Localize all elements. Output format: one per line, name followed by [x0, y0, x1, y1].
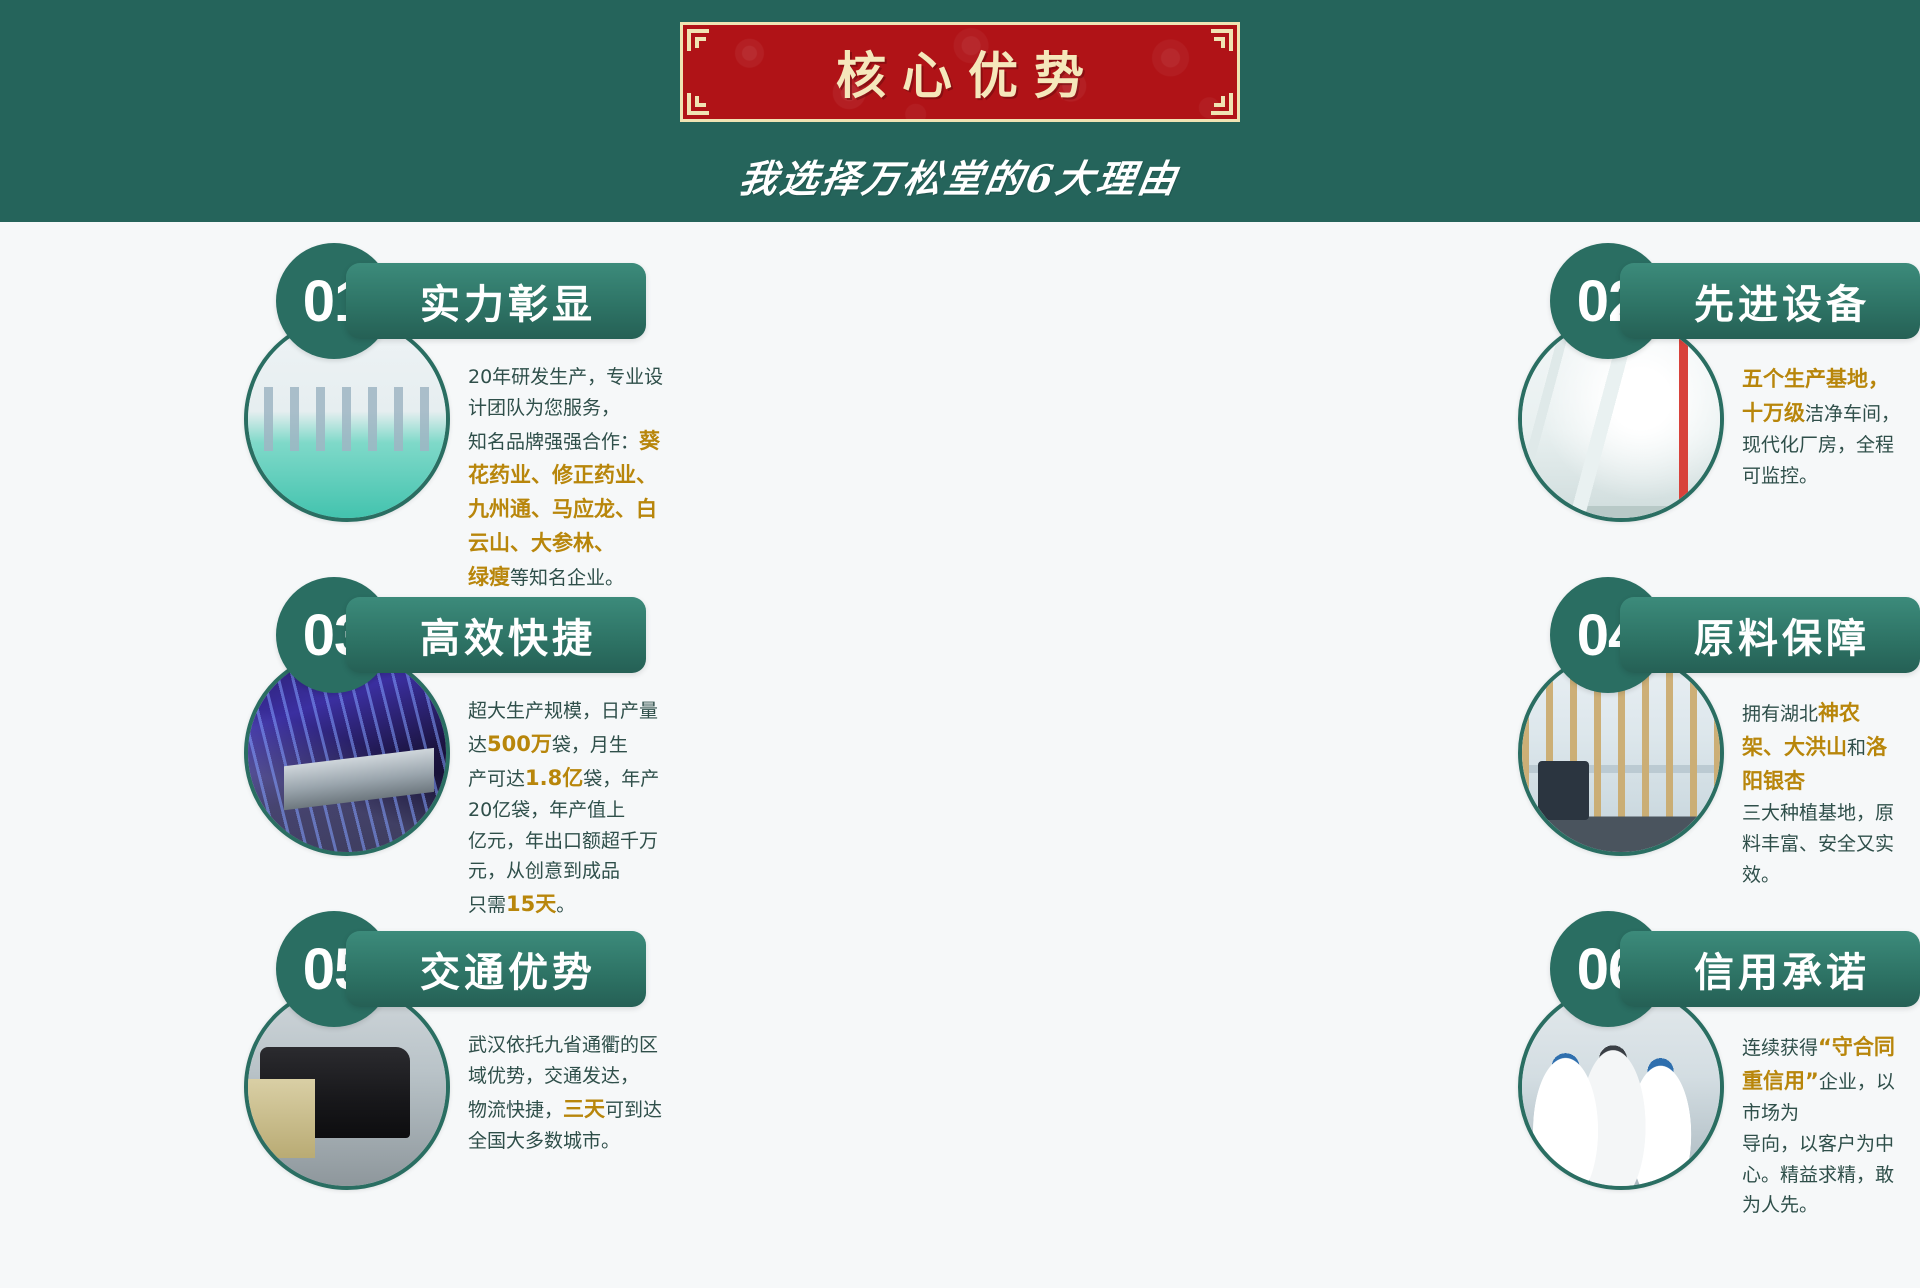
page-title: 核心优势: [820, 36, 1100, 108]
card-header-03: 03 高效快捷: [0, 594, 694, 676]
card-description-06: 连续获得“守合同重信用”企业，以市场为导向，以客户为中心。精益求精，敢为人先。: [1724, 984, 1920, 1221]
card-description-03: 超大生产规模，日产量达500万袋，月生产可达1.8亿袋，年产20亿袋，年产值上亿…: [450, 650, 694, 921]
advantage-card-03: 03 高效快捷 超大生产规模，日产量达500万袋，月生产可达1.8亿袋，年产20…: [0, 594, 694, 928]
card-title-06: 信用承诺: [1620, 931, 1920, 1007]
page-subtitle: 我选择万松堂的6大理由: [736, 148, 1184, 203]
advantage-card-05: 05 交通优势 武汉依托九省通衢的区域优势，交通发达，物流快捷，三天可到达全国大…: [0, 928, 694, 1262]
card-header-05: 05 交通优势: [0, 928, 694, 1010]
advantage-card-06: 06 信用承诺 连续获得“守合同重信用”企业，以市场为导向，以客户为中心。精益求…: [694, 928, 1920, 1262]
advantage-card-04: 04 原料保障 拥有湖北神农架、大洪山和洛阳银杏三大种植基地，原料丰富、安全又实…: [694, 594, 1920, 928]
card-title-01: 实力彰显: [346, 263, 646, 339]
banner-corner-bottom-left-icon: [687, 81, 721, 115]
card-title-05: 交通优势: [346, 931, 646, 1007]
advantage-card-01: 01 实力彰显 20年研发生产，专业设计团队为您服务，知名品牌强强合作：葵花药业…: [0, 260, 694, 594]
core-advantage-banner: 核心优势: [680, 22, 1240, 122]
card-header-01: 01 实力彰显: [0, 260, 694, 342]
card-header-06: 06 信用承诺: [694, 928, 1920, 1010]
banner-corner-top-left-icon: [687, 29, 721, 63]
banner-corner-bottom-right-icon: [1199, 81, 1233, 115]
card-title-03: 高效快捷: [346, 597, 646, 673]
card-body-04: 拥有湖北神农架、大洪山和洛阳银杏三大种植基地，原料丰富、安全又实效。: [694, 650, 1920, 890]
card-body-06: 连续获得“守合同重信用”企业，以市场为导向，以客户为中心。精益求精，敢为人先。: [694, 984, 1920, 1221]
card-description-01: 20年研发生产，专业设计团队为您服务，知名品牌强强合作：葵花药业、修正药业、九州…: [450, 316, 694, 594]
card-title-02: 先进设备: [1620, 263, 1920, 339]
card-description-04: 拥有湖北神农架、大洪山和洛阳银杏三大种植基地，原料丰富、安全又实效。: [1724, 650, 1920, 890]
advantage-card-02: 02 先进设备 五个生产基地，十万级洁净车间，现代化厂房，全程可监控。: [694, 260, 1920, 594]
card-description-02: 五个生产基地，十万级洁净车间，现代化厂房，全程可监控。: [1724, 316, 1920, 492]
card-title-04: 原料保障: [1620, 597, 1920, 673]
banner-corner-top-right-icon: [1199, 29, 1233, 63]
card-body-01: 20年研发生产，专业设计团队为您服务，知名品牌强强合作：葵花药业、修正药业、九州…: [0, 316, 694, 594]
advantages-infographic: 核心优势 我选择万松堂的6大理由 01 实力彰显 20年研发生产，专业设计团队为…: [0, 0, 1920, 1288]
page-header: 核心优势 我选择万松堂的6大理由: [0, 0, 1920, 222]
card-header-04: 04 原料保障: [694, 594, 1920, 676]
card-body-02: 五个生产基地，十万级洁净车间，现代化厂房，全程可监控。: [694, 316, 1920, 522]
card-header-02: 02 先进设备: [694, 260, 1920, 342]
advantages-grid: 01 实力彰显 20年研发生产，专业设计团队为您服务，知名品牌强强合作：葵花药业…: [0, 222, 1920, 1262]
